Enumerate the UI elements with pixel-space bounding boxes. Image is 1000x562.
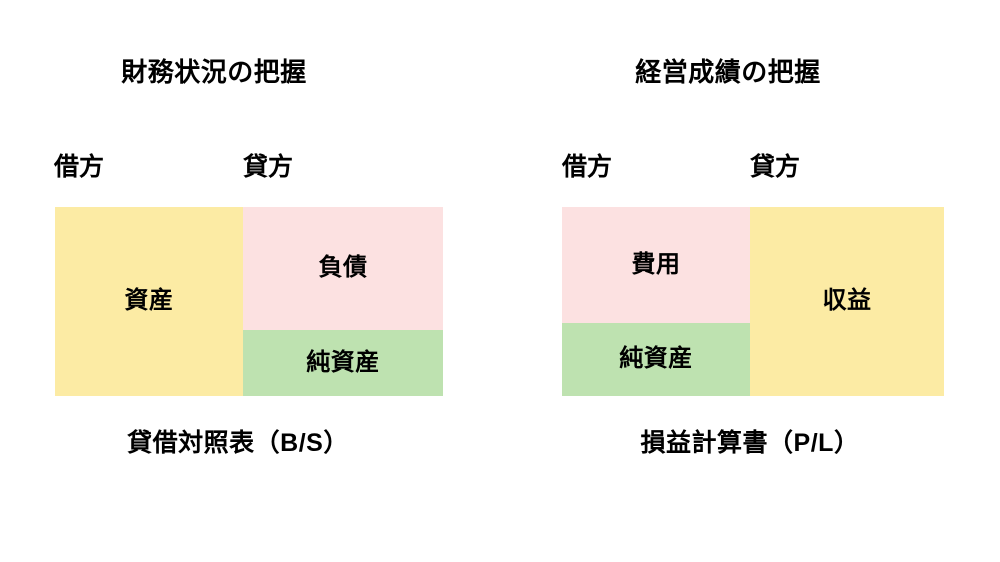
diagram-balance-sheet: 資産 負債 純資産	[55, 207, 443, 396]
caption-balance-sheet: 貸借対照表（B/S）	[0, 428, 488, 459]
side-label-credit-bs: 貸方	[243, 152, 293, 182]
panel-profit-loss: 経営成績の把握 借方 貸方 費用 純資産 収益 損益計算書（P/L）	[500, 0, 1000, 562]
caption-profit-loss: 損益計算書（P/L）	[500, 428, 1000, 459]
pl-cell-equity-label: 純資産	[619, 346, 693, 372]
diagram-profit-loss: 費用 純資産 収益	[562, 207, 944, 396]
pl-cell-revenue-label: 収益	[823, 288, 872, 314]
side-label-credit-pl: 貸方	[750, 152, 800, 182]
panel-balance-sheet: 財務状況の把握 借方 貸方 資産 負債 純資産 貸借対照表（B/S）	[0, 0, 500, 562]
pl-cell-equity: 純資産	[562, 323, 750, 396]
bs-credit-column: 負債 純資産	[243, 207, 443, 396]
bs-cell-equity-label: 純資産	[306, 350, 380, 376]
side-label-debit-bs: 借方	[54, 152, 104, 182]
bs-cell-assets-label: 資産	[125, 288, 174, 314]
panel-title-profit-loss: 経営成績の把握	[478, 56, 978, 89]
bs-cell-liabilities: 負債	[243, 207, 443, 330]
pl-credit-column: 収益	[750, 207, 944, 396]
pl-cell-revenue: 収益	[750, 207, 944, 396]
bs-cell-assets: 資産	[55, 207, 243, 396]
panel-title-balance-sheet: 財務状況の把握	[0, 56, 464, 89]
bs-cell-liabilities-label: 負債	[319, 255, 368, 281]
bs-cell-equity: 純資産	[243, 330, 443, 396]
bs-debit-column: 資産	[55, 207, 243, 396]
figure-canvas: 財務状況の把握 借方 貸方 資産 負債 純資産 貸借対照表（B/S） 経営成績の…	[0, 0, 1000, 562]
pl-debit-column: 費用 純資産	[562, 207, 750, 396]
pl-cell-expenses: 費用	[562, 207, 750, 323]
pl-cell-expenses-label: 費用	[632, 252, 681, 278]
side-label-debit-pl: 借方	[562, 152, 612, 182]
